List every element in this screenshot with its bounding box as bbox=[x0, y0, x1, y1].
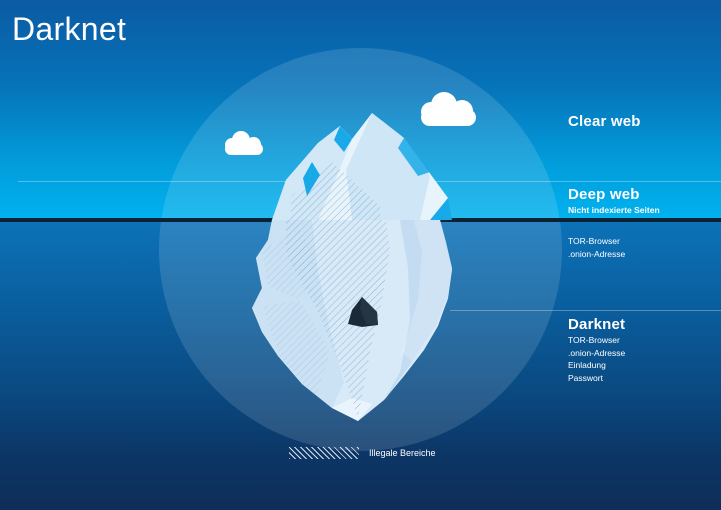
darknet-heading: Darknet bbox=[568, 315, 625, 334]
deep-web-subtitle: Nicht indexierte Seiten bbox=[568, 204, 660, 216]
requirement-item: Einladung bbox=[568, 359, 625, 372]
legend: Illegale Bereiche bbox=[289, 447, 436, 459]
requirement-item: .onion-Adresse bbox=[568, 347, 625, 360]
hatch-pattern-swatch bbox=[289, 447, 359, 459]
cloud-base bbox=[421, 109, 476, 126]
deep-web-heading: Deep web bbox=[568, 185, 660, 204]
requirement-item: TOR-Browser bbox=[568, 334, 625, 347]
requirement-item: TOR-Browser bbox=[568, 235, 625, 248]
infographic-canvas: Darknet Clear web Deep web Nicht indexie… bbox=[0, 0, 721, 510]
legend-label: Illegale Bereiche bbox=[369, 447, 436, 459]
cloud-icon-large bbox=[421, 92, 476, 126]
label-clear-web: Clear web bbox=[568, 112, 641, 131]
requirement-item: .onion-Adresse bbox=[568, 248, 625, 261]
requirement-item: Passwort bbox=[568, 372, 625, 385]
cloud-base bbox=[225, 143, 263, 155]
cloud-icon-small bbox=[225, 131, 263, 155]
page-title: Darknet bbox=[12, 10, 126, 48]
label-deep-web-requirements: TOR-Browser .onion-Adresse bbox=[568, 235, 625, 260]
clear-web-heading: Clear web bbox=[568, 112, 641, 131]
label-darknet: Darknet TOR-Browser .onion-Adresse Einla… bbox=[568, 315, 625, 384]
label-deep-web: Deep web Nicht indexierte Seiten bbox=[568, 185, 660, 216]
iceberg-tip bbox=[272, 113, 452, 220]
iceberg-submerged bbox=[252, 220, 452, 421]
